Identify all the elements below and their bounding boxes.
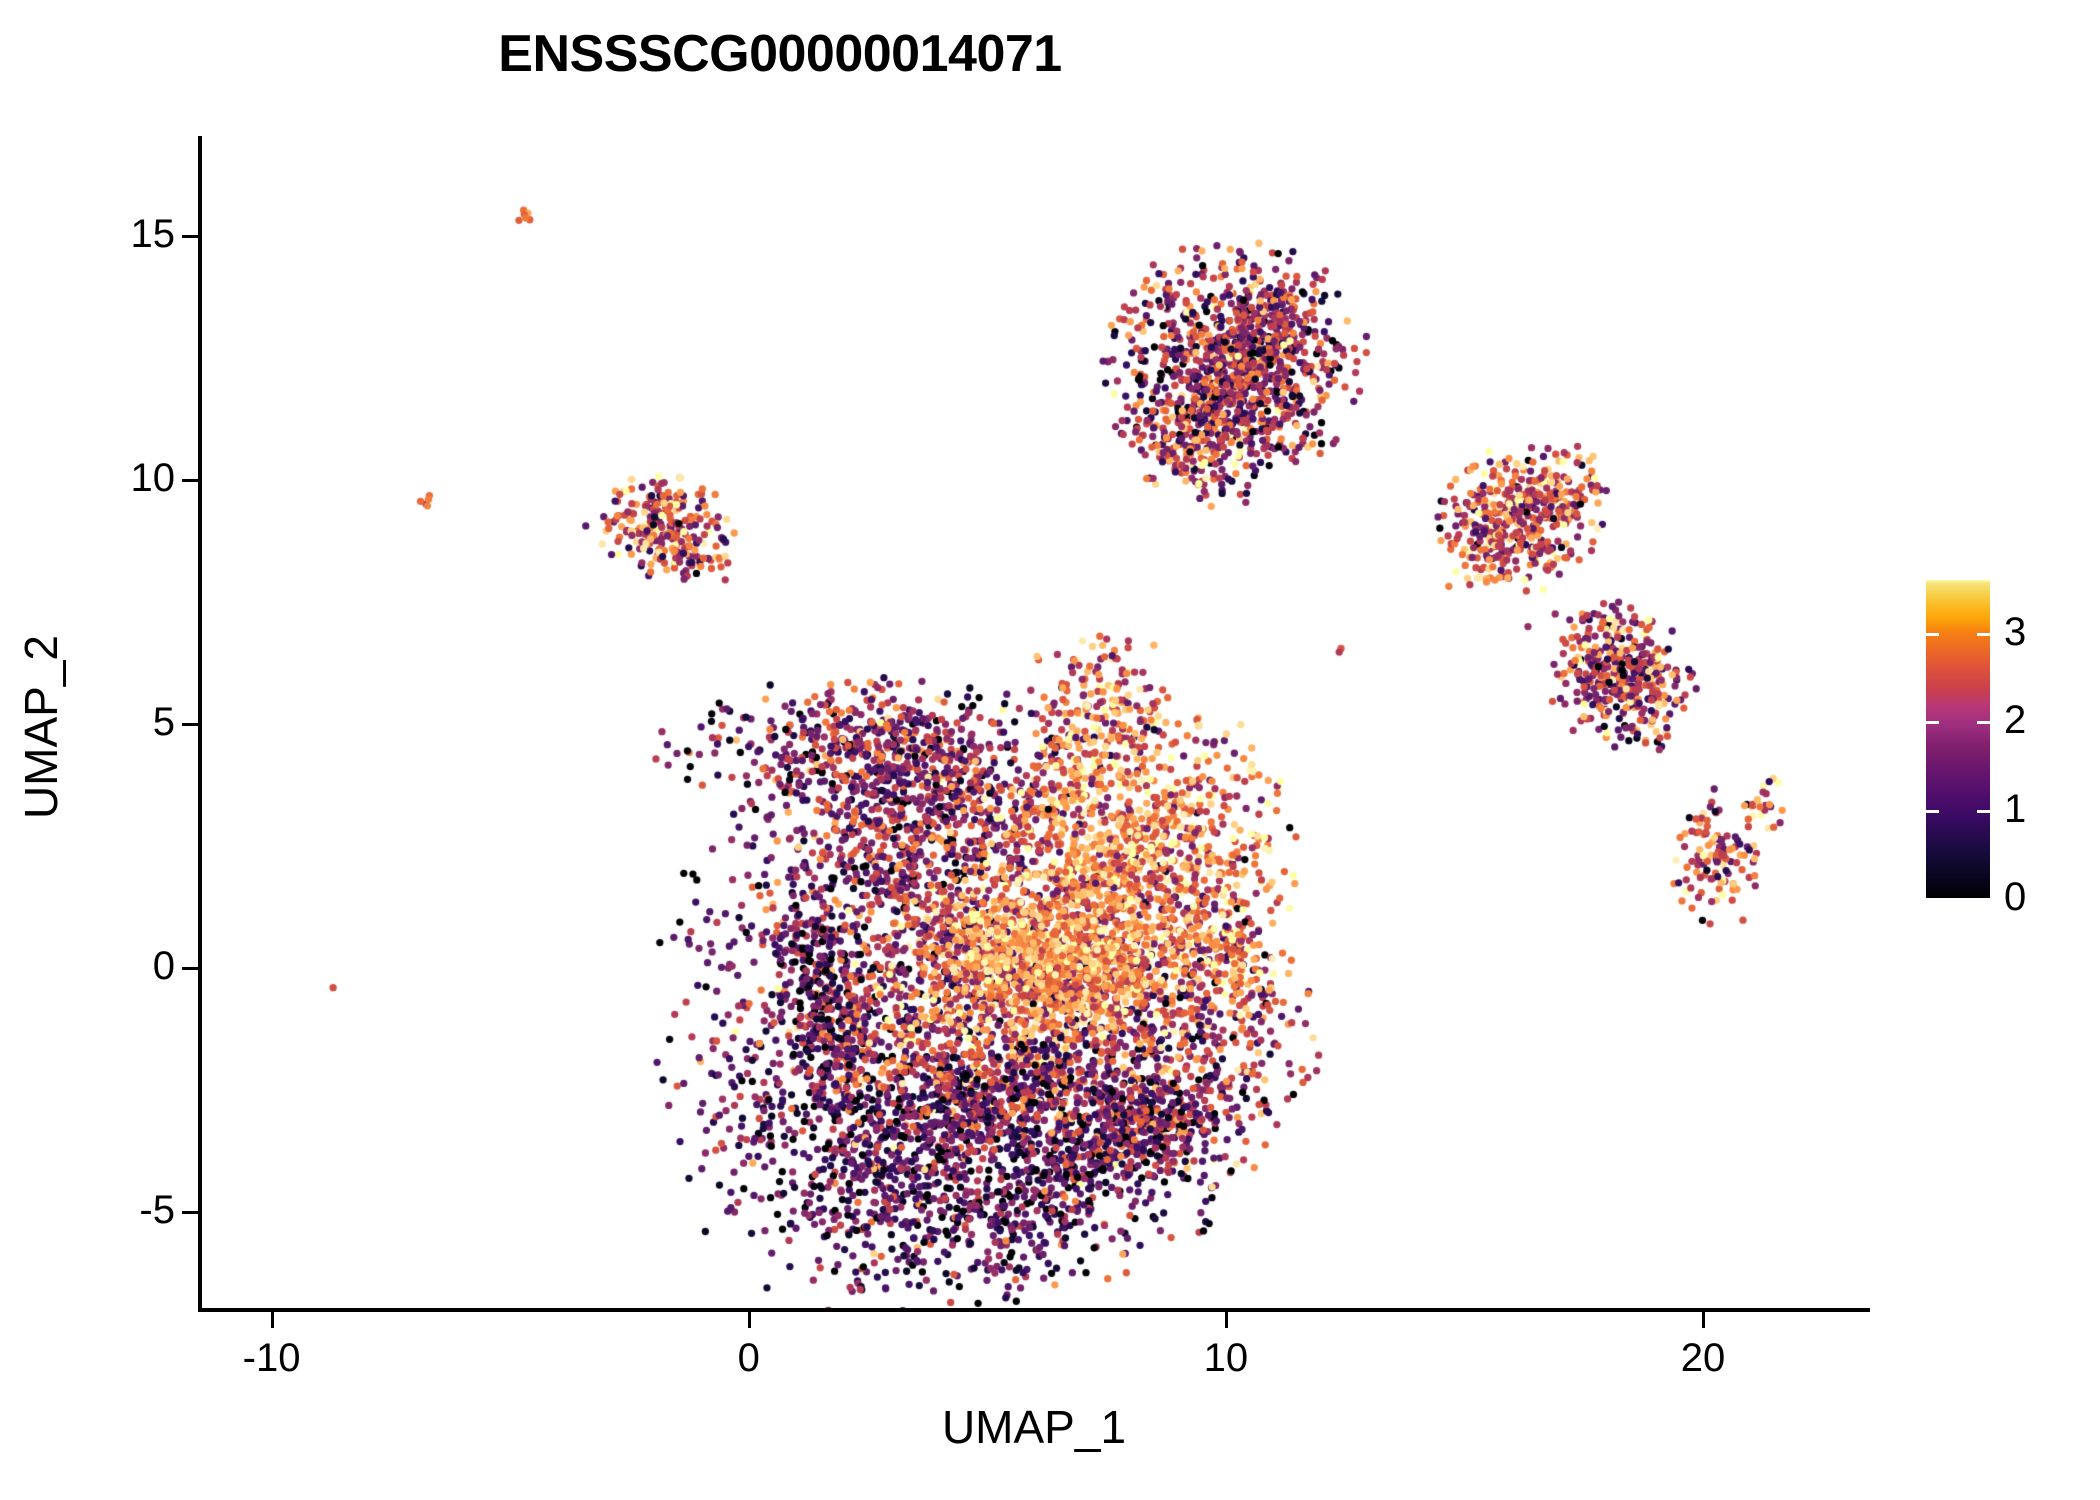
scatter-points-canvas <box>200 138 1870 1310</box>
x-axis-tick-label: 0 <box>669 1338 829 1378</box>
x-axis-tick-mark <box>271 1312 274 1328</box>
colorbar-tick-mark <box>1926 633 1939 636</box>
colorbar-tick-label: 3 <box>2004 612 2064 652</box>
colorbar-tick-mark <box>1977 810 1990 813</box>
colorbar-tick-mark <box>1926 898 1939 901</box>
x-axis-tick-mark <box>1702 1312 1705 1328</box>
y-axis-tick-mark <box>182 1211 198 1214</box>
colorbar-tick-label: 0 <box>2004 877 2064 917</box>
y-axis-title: UMAP_2 <box>14 141 68 1313</box>
x-axis-line <box>198 1308 1870 1312</box>
colorbar-tick-mark <box>1926 721 1939 724</box>
colorbar-tick-mark <box>1977 633 1990 636</box>
y-axis-tick-mark <box>182 235 198 238</box>
y-axis-tick-mark <box>182 723 198 726</box>
page-title: ENSSSCG00000014071 <box>0 24 1560 84</box>
y-axis-tick-mark <box>182 479 198 482</box>
umap-feature-plot: ENSSSCG00000014071 151050-5 -1001020 UMA… <box>0 0 2100 1500</box>
colorbar-tick-label: 2 <box>2004 700 2064 740</box>
colorbar-tick-mark <box>1977 898 1990 901</box>
colorbar-tick-label: 1 <box>2004 789 2064 829</box>
colorbar-tick-mark <box>1926 810 1939 813</box>
x-axis-tick-mark <box>748 1312 751 1328</box>
x-axis-tick-label: -10 <box>192 1338 352 1378</box>
x-axis-tick-label: 20 <box>1623 1338 1783 1378</box>
y-axis-line <box>198 136 202 1312</box>
x-axis-tick-mark <box>1225 1312 1228 1328</box>
x-axis-tick-label: 10 <box>1146 1338 1306 1378</box>
colorbar-gradient <box>1926 580 1990 898</box>
colorbar-legend: 3210 <box>1900 560 2080 960</box>
colorbar-tick-mark <box>1977 721 1990 724</box>
plot-panel <box>200 138 1870 1310</box>
y-axis-tick-mark <box>182 967 198 970</box>
x-axis-title: UMAP_1 <box>198 1400 1870 1454</box>
